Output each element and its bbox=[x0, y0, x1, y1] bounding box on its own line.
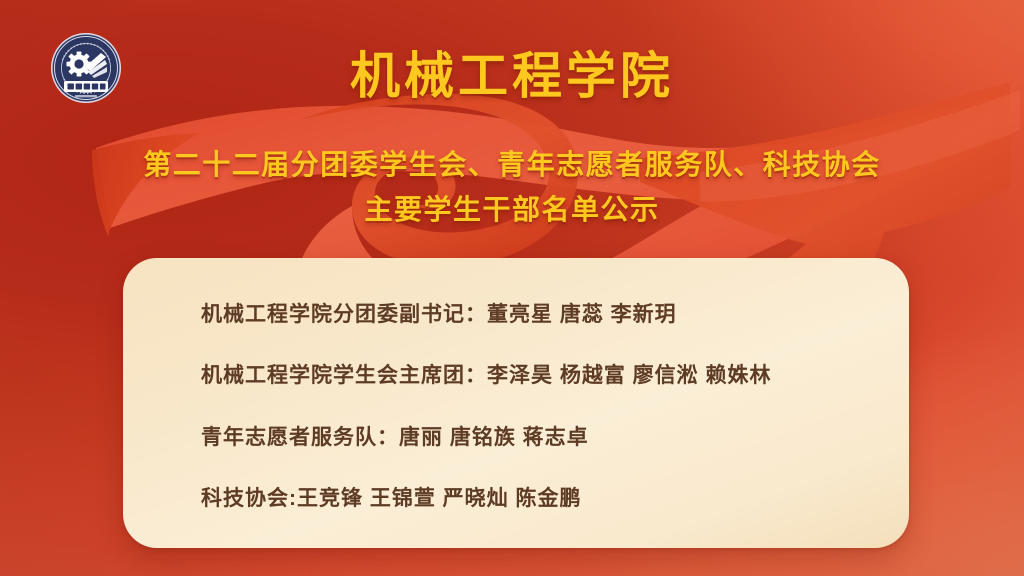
list-item: 科技协会:王竞锋 王锦萱 严晓灿 陈金鹏 bbox=[201, 484, 879, 514]
list-item: 青年志愿者服务队：唐丽 唐铭族 蒋志卓 bbox=[201, 423, 879, 453]
roster-card: 机械工程学院分团委副书记：董亮星 唐蕊 李新玥 机械工程学院学生会主席团：李泽昊… bbox=[123, 258, 909, 548]
page-subtitle: 第二十二届分团委学生会、青年志愿者服务队、科技协会 主要学生干部名单公示 bbox=[0, 142, 1024, 232]
page-title: 机械工程学院 bbox=[0, 46, 1024, 106]
roster-list: 机械工程学院分团委副书记：董亮星 唐蕊 李新玥 机械工程学院学生会主席团：李泽昊… bbox=[201, 284, 879, 530]
subtitle-line-2: 主要学生干部名单公示 bbox=[0, 187, 1024, 232]
subtitle-line-1: 第二十二届分团委学生会、青年志愿者服务队、科技协会 bbox=[0, 142, 1024, 187]
list-item: 机械工程学院分团委副书记：董亮星 唐蕊 李新玥 bbox=[201, 300, 879, 330]
list-item: 机械工程学院学生会主席团：李泽昊 杨越富 廖信淞 赖姝林 bbox=[201, 361, 879, 391]
poster-canvas: 机械工程学院 第二十二届分团委学生会、青年志愿者服务队、科技协会 主要学生干部名… bbox=[0, 0, 1024, 576]
